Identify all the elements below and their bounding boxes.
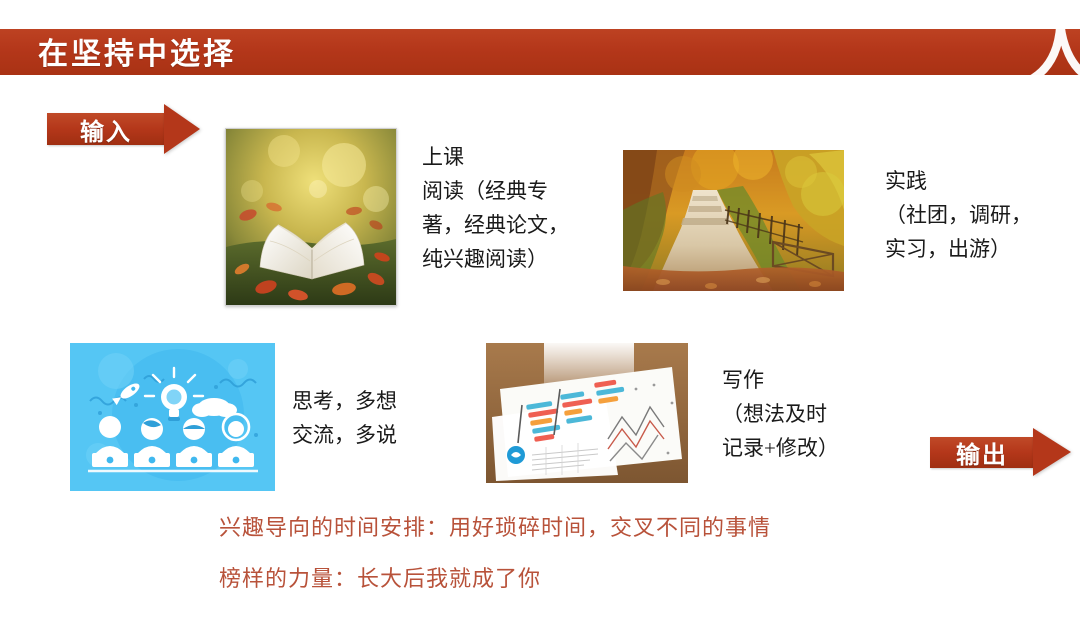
slide-title-bar: 在坚持中选择 人 [0, 29, 1080, 75]
footer-line-time-arrangement: 兴趣导向的时间安排：用好琐碎时间，交叉不同的事情 [219, 510, 771, 542]
output-arrow-body: 输出 [930, 437, 1034, 468]
input-arrow-head-icon [164, 104, 200, 154]
charts-documents-graphic [486, 343, 688, 483]
image-team-brainstorm-illustration [70, 343, 275, 491]
input-arrow-body: 输入 [47, 113, 165, 145]
text-block-think-talk: 思考，多想 交流，多说 [292, 384, 492, 452]
output-arrow-head-icon [1033, 428, 1071, 476]
text-block-practice: 实践 （社团，调研， 实习，出游） [885, 164, 1075, 266]
image-book-on-autumn-grass [225, 128, 397, 306]
forest-path-photo-graphic [623, 150, 844, 291]
team-brainstorm-graphic [70, 343, 275, 491]
text-block-writing: 写作 （想法及时 记录+修改） [722, 363, 922, 465]
text-block-class-reading: 上课 阅读（经典专 著，经典论文， 纯兴趣阅读） [422, 140, 612, 276]
footer-line-role-model: 榜样的力量：长大后我就成了你 [219, 561, 541, 593]
page-title: 在坚持中选择 [38, 29, 236, 73]
output-arrow-label: 输出 [956, 435, 1008, 470]
input-arrow-label: 输入 [80, 112, 132, 147]
image-autumn-forest-path [623, 150, 844, 291]
book-photo-graphic [226, 129, 396, 305]
image-charts-documents-on-desk [486, 343, 688, 483]
title-decoration-glyph: 人 [1024, 29, 1080, 75]
slide-canvas: 在坚持中选择 人 输入 输出 [0, 0, 1080, 618]
output-arrow: 输出 [930, 428, 1071, 476]
input-arrow: 输入 [47, 104, 200, 154]
